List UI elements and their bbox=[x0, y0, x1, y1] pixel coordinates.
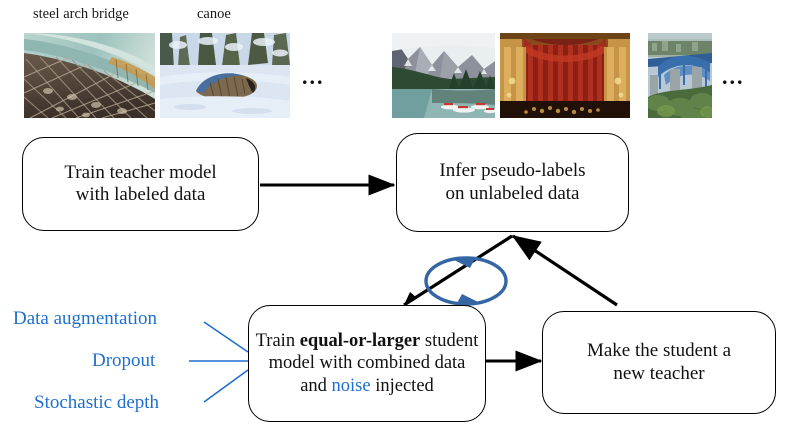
train-teacher-model-node[interactable]: Train teacher model with labeled data bbox=[22, 137, 259, 231]
figure-canvas: steel arch bridge canoe bbox=[0, 0, 805, 437]
train-student-model-label: Train equal-or-larger student model with… bbox=[249, 330, 485, 397]
train-teacher-model-label: Train teacher model with labeled data bbox=[58, 162, 222, 207]
make-student-new-teacher-label: Make the student a new teacher bbox=[581, 340, 737, 385]
noise-emphasis: noise bbox=[332, 376, 371, 396]
make-student-new-teacher-node[interactable]: Make the student a new teacher bbox=[542, 311, 776, 414]
arrow-new-teacher-to-infer bbox=[513, 236, 617, 305]
equal-or-larger-emphasis: equal-or-larger bbox=[300, 331, 421, 351]
train-student-model-node[interactable]: Train equal-or-larger student model with… bbox=[248, 305, 486, 422]
infer-pseudo-labels-node[interactable]: Infer pseudo-labels on unlabeled data bbox=[396, 133, 629, 232]
infer-pseudo-labels-label: Infer pseudo-labels on unlabeled data bbox=[433, 160, 591, 205]
iteration-loop-arrow bbox=[426, 257, 506, 305]
